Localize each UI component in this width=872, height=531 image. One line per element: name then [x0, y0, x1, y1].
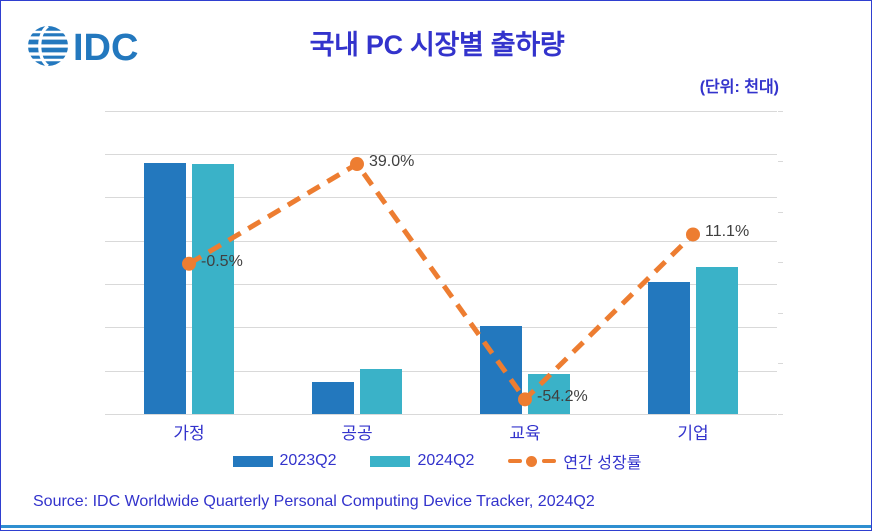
bar-기업-2024Q2 — [696, 267, 738, 414]
rtick-mark-40 — [778, 161, 783, 162]
gridline-600 — [105, 154, 777, 155]
rtick-mark-0 — [778, 262, 783, 263]
bar-기업-2023Q2 — [648, 282, 690, 414]
bar-가정-2024Q2 — [192, 164, 234, 414]
bar-교육-2023Q2 — [480, 326, 522, 414]
x-axis-label-가정: 가정 — [129, 419, 249, 444]
legend-item-2023q2[interactable]: 2023Q2 — [233, 452, 337, 470]
x-axis-label-공공: 공공 — [297, 419, 417, 444]
source-note: Source: IDC Worldwide Quarterly Personal… — [33, 493, 595, 511]
rtick-mark-n40 — [778, 363, 783, 364]
rtick-mark-n60 — [778, 414, 783, 415]
gridline-700 — [105, 111, 777, 112]
chart-legend: 2023Q2 2024Q2 연간 성장률 — [1, 449, 872, 473]
chart-page: IDC 국내 PC 시장별 출하량 (단위: 천대) 700 600 500 4… — [0, 0, 872, 531]
bar-공공-2023Q2 — [312, 382, 354, 414]
legend-label-2023q2: 2023Q2 — [280, 452, 337, 470]
growth-label-공공: 39.0% — [369, 153, 414, 171]
gridline-0 — [105, 414, 777, 415]
rtick-mark-60 — [778, 111, 783, 112]
legend-label-2024q2: 2024Q2 — [417, 452, 474, 470]
unit-note: (단위: 천대) — [700, 73, 779, 97]
x-axis-label-기업: 기업 — [633, 419, 753, 444]
legend-swatch-growth-rate — [508, 455, 556, 467]
bar-공공-2024Q2 — [360, 369, 402, 414]
footer-divider — [1, 525, 872, 528]
growth-label-가정: -0.5% — [201, 253, 243, 271]
growth-label-기업: 11.1% — [705, 223, 749, 241]
page-title: 국내 PC 시장별 출하량 — [1, 23, 872, 62]
legend-swatch-2023q2 — [233, 456, 273, 467]
x-axis-label-교육: 교육 — [465, 419, 585, 444]
legend-swatch-2024q2 — [370, 456, 410, 467]
legend-item-2024q2[interactable]: 2024Q2 — [370, 452, 474, 470]
rtick-mark-n20 — [778, 313, 783, 314]
legend-label-growth-rate: 연간 성장률 — [563, 449, 641, 473]
legend-item-growth-rate[interactable]: 연간 성장률 — [508, 449, 641, 473]
growth-label-교육: -54.2% — [537, 388, 588, 406]
rtick-mark-20 — [778, 212, 783, 213]
bar-가정-2023Q2 — [144, 163, 186, 414]
